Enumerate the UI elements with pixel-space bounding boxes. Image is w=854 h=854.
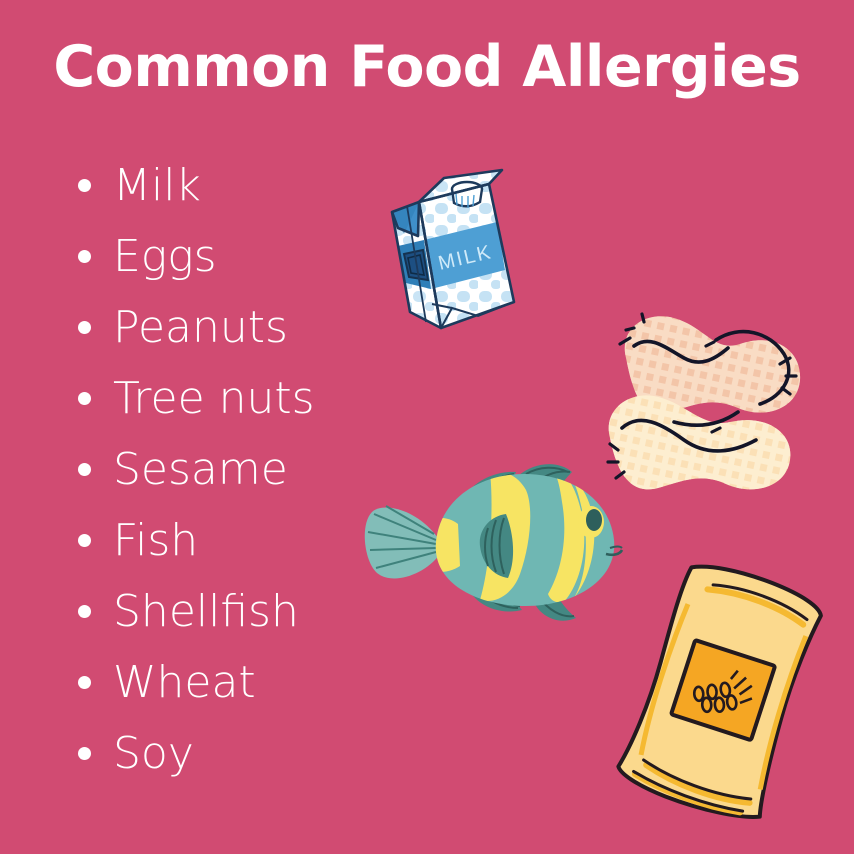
list-item: Peanuts	[78, 292, 408, 363]
bullet-icon	[78, 179, 91, 192]
list-item: Eggs	[78, 221, 408, 292]
poster-canvas: Common Food Allergies Milk Eggs Peanuts …	[0, 0, 854, 854]
list-item-label: Soy	[113, 732, 194, 776]
bullet-icon	[78, 747, 91, 760]
milk-carton-illustration: MILK	[368, 158, 548, 348]
wheat-bag-illustration	[592, 558, 847, 828]
list-item-label: Milk	[113, 164, 201, 208]
list-item-label: Shellfish	[113, 590, 299, 634]
list-item-label: Eggs	[113, 235, 217, 279]
fish-pupil	[586, 509, 602, 531]
list-item-label: Tree nuts	[113, 377, 315, 421]
list-item-label: Sesame	[113, 448, 288, 492]
bullet-icon	[78, 321, 91, 334]
bullet-icon	[78, 250, 91, 263]
bullet-icon	[78, 392, 91, 405]
list-item: Milk	[78, 150, 408, 221]
bullet-icon	[78, 676, 91, 689]
list-item-label: Wheat	[113, 661, 256, 705]
bullet-icon	[78, 605, 91, 618]
list-item: Soy	[78, 718, 408, 789]
bullet-icon	[78, 463, 91, 476]
list-item-label: Fish	[113, 519, 198, 563]
bullet-icon	[78, 534, 91, 547]
list-item-label: Peanuts	[113, 306, 288, 350]
page-title: Common Food Allergies	[0, 36, 854, 99]
list-item: Tree nuts	[78, 363, 408, 434]
list-item: Wheat	[78, 647, 408, 718]
